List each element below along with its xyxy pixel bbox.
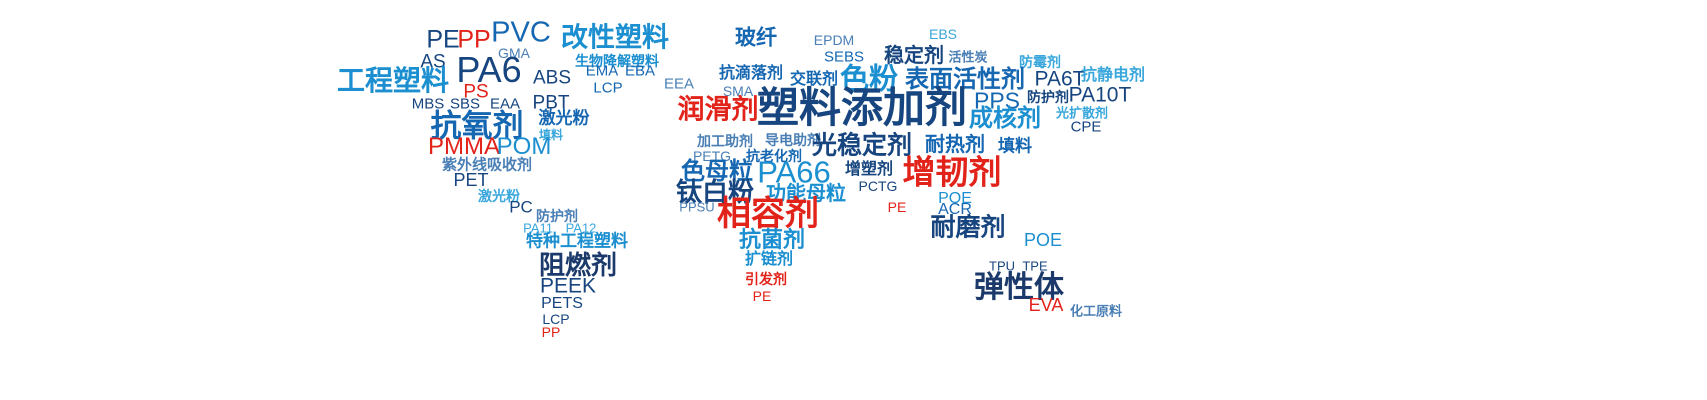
wordcloud-word[interactable]: 活性炭 <box>948 51 987 64</box>
wordcloud-word[interactable]: 相容剂 <box>717 197 819 231</box>
wordcloud-word[interactable]: EBA <box>625 64 655 79</box>
wordcloud-word[interactable]: 耐磨剂 <box>930 216 1005 241</box>
wordcloud-word[interactable]: 工程塑料 <box>337 67 449 95</box>
wordcloud-word[interactable]: 化工原料 <box>1070 305 1122 318</box>
wordcloud-word[interactable]: PPSU <box>679 201 714 214</box>
wordcloud-word[interactable]: 增塑剂 <box>845 162 893 178</box>
wordcloud-word[interactable]: PMMA <box>428 135 500 159</box>
wordcloud-word[interactable]: 耐热剂 <box>925 135 985 155</box>
wordcloud-word[interactable]: 塑料添加剂 <box>757 87 967 129</box>
wordcloud-word[interactable]: POE <box>1024 231 1062 249</box>
wordcloud-word[interactable]: POM <box>497 135 552 159</box>
wordcloud-word[interactable]: 玻纤 <box>735 28 777 49</box>
wordcloud-word[interactable]: CPE <box>1071 120 1102 135</box>
wordcloud-word[interactable]: 引发剂 <box>745 272 787 286</box>
wordcloud-word[interactable]: 扩链剂 <box>745 252 793 268</box>
wordcloud-word[interactable]: PE <box>426 28 459 53</box>
wordcloud-word[interactable]: PEEK <box>540 276 596 297</box>
wordcloud-word[interactable]: LCP <box>593 81 622 96</box>
wordcloud-word[interactable]: 抗滴落剂 <box>719 66 783 82</box>
wordcloud-word[interactable]: PC <box>509 199 533 216</box>
wordcloud-word[interactable]: SEBS <box>824 50 864 65</box>
wordcloud-word[interactable]: EMA <box>586 64 619 79</box>
wordcloud-word[interactable]: ABS <box>533 69 571 88</box>
wordcloud-word[interactable]: PE <box>888 200 907 214</box>
wordcloud-canvas: PEPPPVCGMA改性塑料生物降解塑料玻纤EPDMEBSASPA6ABSEMA… <box>0 0 1707 400</box>
wordcloud-word[interactable]: PE <box>753 289 772 303</box>
wordcloud-word[interactable]: PVC <box>491 19 551 48</box>
wordcloud-word[interactable]: 抗菌剂 <box>739 229 805 251</box>
wordcloud-word[interactable]: EEA <box>664 77 694 92</box>
wordcloud-word[interactable]: EVA <box>1029 296 1064 314</box>
wordcloud-word[interactable]: 改性塑料 <box>561 25 669 52</box>
wordcloud-word[interactable]: PET <box>453 171 488 189</box>
wordcloud-word[interactable]: PETS <box>541 296 583 312</box>
wordcloud-word[interactable]: 加工助剂 <box>697 134 753 148</box>
wordcloud-word[interactable]: 成核剂 <box>969 107 1041 131</box>
wordcloud-word[interactable]: EPDM <box>814 33 854 47</box>
wordcloud-word[interactable]: EBS <box>929 27 957 41</box>
wordcloud-word[interactable]: 增韧剂 <box>903 156 1002 189</box>
wordcloud-word[interactable]: PCTG <box>859 179 898 193</box>
wordcloud-word[interactable]: PP <box>542 325 561 339</box>
wordcloud-word[interactable]: 激光粉 <box>539 110 590 127</box>
wordcloud-word[interactable]: 填料 <box>998 138 1032 155</box>
wordcloud-word[interactable]: 防护剂 <box>1027 90 1069 104</box>
wordcloud-word[interactable]: 抗静电剂 <box>1081 68 1145 84</box>
wordcloud-word[interactable]: 润滑剂 <box>678 97 759 124</box>
wordcloud-word[interactable]: 特种工程塑料 <box>526 233 628 250</box>
wordcloud-word[interactable]: PA10T <box>1069 85 1132 106</box>
